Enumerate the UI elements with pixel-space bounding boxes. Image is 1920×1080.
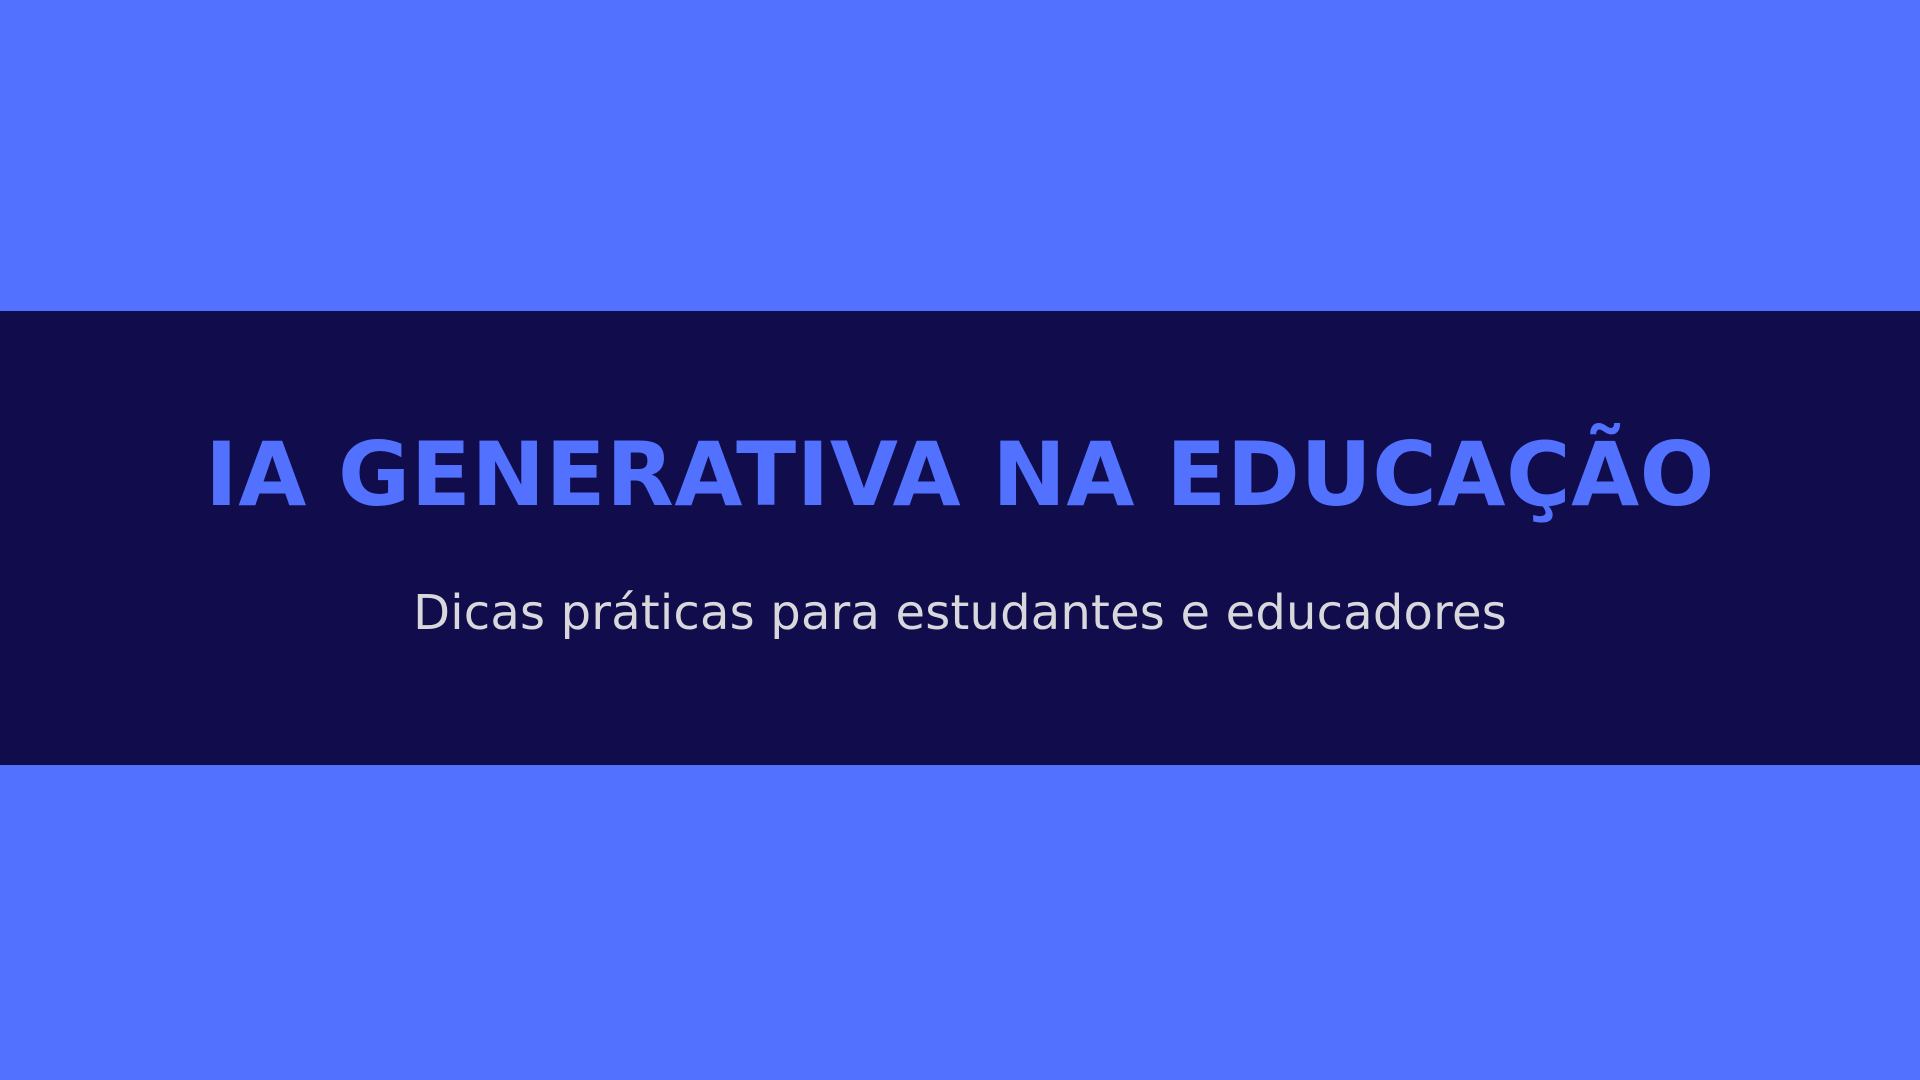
center-navy-band: IA GENERATIVA NA EDUCAÇÃO Dicas práticas… <box>0 311 1920 765</box>
bottom-color-band <box>0 765 1920 1080</box>
page-title: IA GENERATIVA NA EDUCAÇÃO <box>0 431 1920 519</box>
title-slide: IA GENERATIVA NA EDUCAÇÃO Dicas práticas… <box>0 0 1920 1080</box>
top-color-band <box>0 0 1920 311</box>
page-subtitle: Dicas práticas para estudantes e educado… <box>0 589 1920 637</box>
